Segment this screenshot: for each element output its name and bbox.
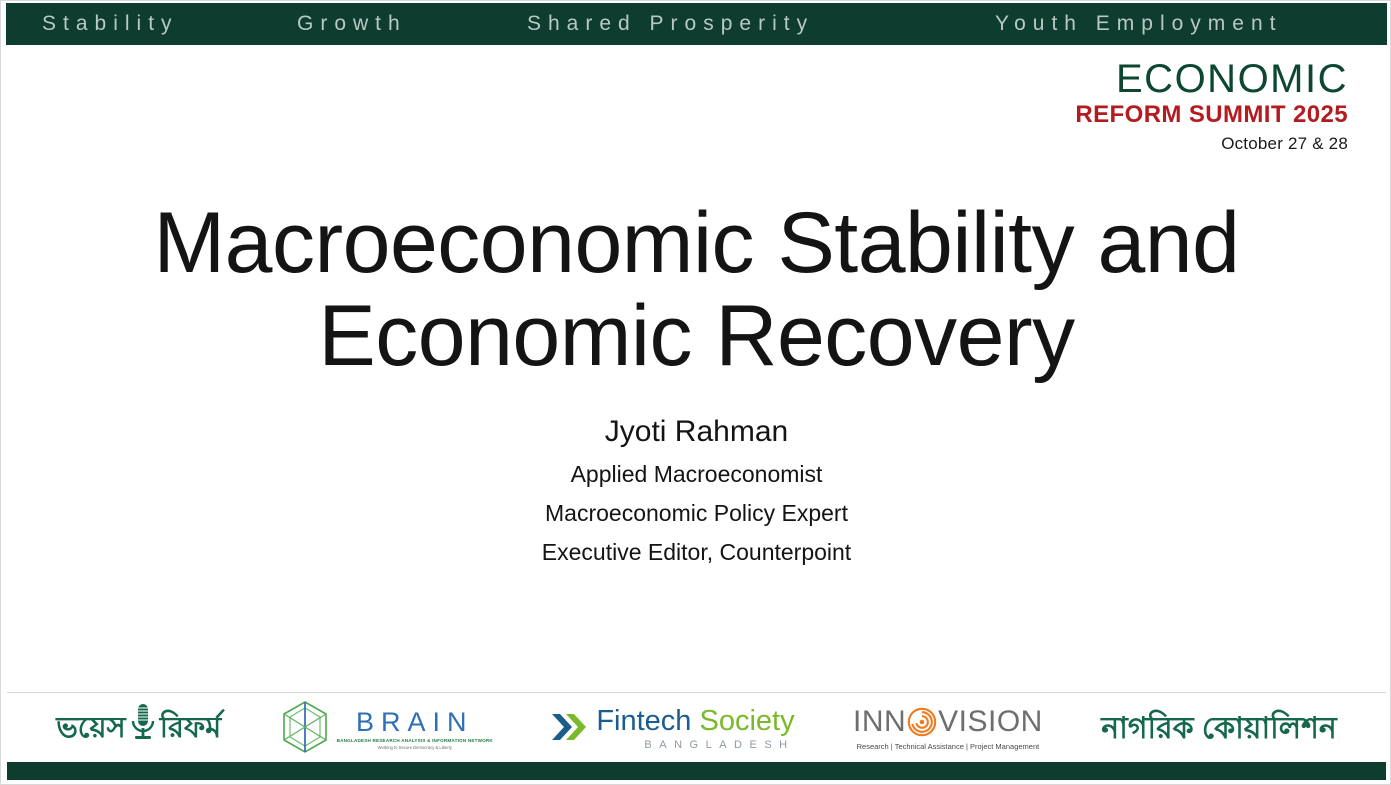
summit-logo-economic: ECONOMIC bbox=[1075, 59, 1348, 99]
microphone-icon bbox=[128, 702, 158, 756]
voice-for-reform-word-right: রিফর্ম bbox=[160, 705, 222, 754]
sponsor-logo-innovision: INN VISION Research | Technical Assistan… bbox=[853, 699, 1043, 759]
spiral-icon bbox=[907, 707, 937, 737]
theme-item-growth: Growth bbox=[297, 12, 407, 36]
brain-subtitle: BANGLADESH RESEARCH ANALYSIS & INFORMATI… bbox=[337, 738, 493, 743]
theme-item-shared-prosperity: Shared Prosperity bbox=[527, 12, 814, 36]
title-block: Macroeconomic Stability and Economic Rec… bbox=[1, 197, 1391, 383]
innovision-tagline: Research | Technical Assistance | Projec… bbox=[857, 742, 1040, 751]
sponsor-logo-brain: BRAIN BANGLADESH RESEARCH ANALYSIS & INF… bbox=[280, 699, 493, 759]
presenter-role-2: Macroeconomic Policy Expert bbox=[1, 500, 1391, 527]
theme-bar: Stability Growth Shared Prosperity Youth… bbox=[6, 3, 1387, 45]
innovision-word-vision: VISION bbox=[938, 707, 1043, 737]
slide-title: Macroeconomic Stability and Economic Rec… bbox=[1, 197, 1391, 383]
fintech-word-society: Society bbox=[700, 705, 795, 737]
double-chevron-icon bbox=[551, 712, 589, 747]
summit-logo-date: October 27 & 28 bbox=[1075, 135, 1348, 152]
fintech-word-fintech: Fintech bbox=[596, 705, 691, 737]
sponsor-logo-nagorik-coalition: নাগরিক কোয়ালিশন bbox=[1101, 699, 1337, 759]
sponsor-logo-band: ভয়েস রিফর্ম bbox=[7, 693, 1386, 765]
summit-logo-reform-summit: REFORM SUMMIT 2025 bbox=[1075, 103, 1348, 127]
brain-tagline: Working to Secure Democracy & Liberty bbox=[378, 745, 452, 750]
summit-logo: ECONOMIC REFORM SUMMIT 2025 October 27 &… bbox=[1075, 59, 1348, 152]
voice-for-reform-word-left: ভয়েস bbox=[56, 705, 126, 754]
innovision-word-inn: INN bbox=[853, 707, 906, 737]
footer-bar bbox=[7, 762, 1386, 780]
fintech-subtitle-bangladesh: BANGLADESH bbox=[596, 739, 794, 751]
sponsor-logo-voice-for-reform: ভয়েস রিফর্ম bbox=[56, 699, 221, 759]
presenter-block: Jyoti Rahman Applied Macroeconomist Macr… bbox=[1, 415, 1391, 578]
theme-item-stability: Stability bbox=[42, 12, 179, 36]
presenter-role-1: Applied Macroeconomist bbox=[1, 461, 1391, 488]
presenter-name: Jyoti Rahman bbox=[1, 415, 1391, 449]
brain-wordmark: BRAIN bbox=[356, 709, 474, 736]
sponsor-logo-fintech-society: Fintech Society BANGLADESH bbox=[551, 699, 794, 759]
presenter-role-3: Executive Editor, Counterpoint bbox=[1, 539, 1391, 566]
nagorik-coalition-wordmark: নাগরিক কোয়ালিশন bbox=[1101, 704, 1337, 755]
presentation-slide: Stability Growth Shared Prosperity Youth… bbox=[0, 0, 1391, 785]
theme-item-youth-employment: Youth Employment bbox=[995, 12, 1283, 36]
hexagon-logo-icon bbox=[280, 699, 330, 760]
